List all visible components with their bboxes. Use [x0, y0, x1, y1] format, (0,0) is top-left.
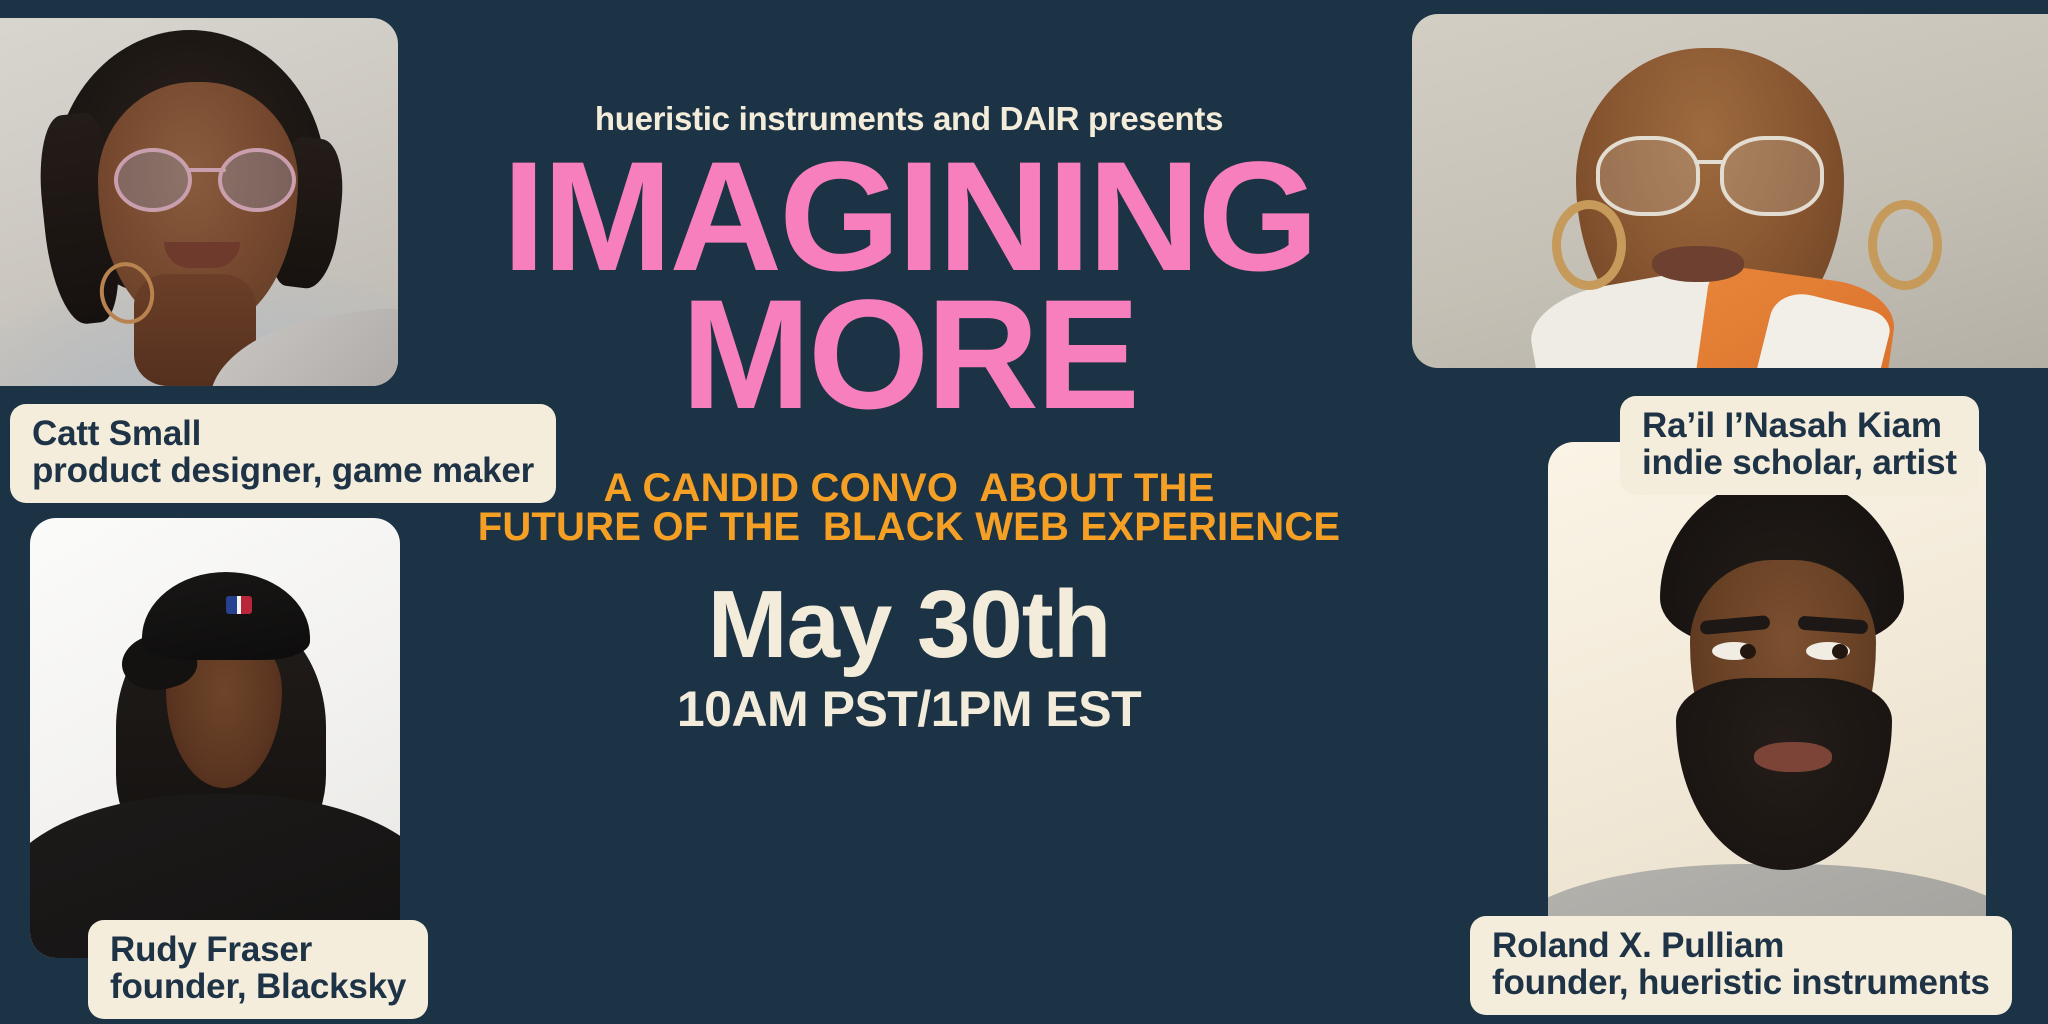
photo-content — [1412, 14, 2048, 368]
photo-content — [0, 18, 398, 386]
mouth-shape — [1652, 246, 1744, 282]
speaker-name: Rudy Fraser — [110, 931, 406, 968]
eyeglasses — [1596, 136, 1824, 208]
speaker-role: product designer, game maker — [32, 452, 534, 489]
speaker-nameplate-rudy-fraser: Rudy Fraser founder, Blacksky — [88, 920, 428, 1019]
speaker-nameplate-catt-small: Catt Small product designer, game maker — [10, 404, 556, 503]
pupil-right — [1832, 644, 1848, 659]
cap-logo-icon — [226, 596, 252, 614]
lens-left — [114, 148, 192, 212]
speaker-role: founder, Blacksky — [110, 968, 406, 1005]
event-time: 10AM PST/1PM EST — [404, 680, 1414, 738]
event-date: May 30th — [404, 570, 1414, 680]
poster-title-line-1: IMAGINING — [404, 152, 1414, 283]
lens-right — [1720, 136, 1824, 216]
photo-content — [30, 518, 400, 958]
lens-right — [218, 148, 296, 212]
speaker-name: Ra’il I’Nasah Kiam — [1642, 407, 1957, 444]
speaker-role: founder, hueristic instruments — [1492, 964, 1990, 1001]
eyeglasses — [110, 148, 300, 204]
speaker-name: Catt Small — [32, 415, 534, 452]
speaker-nameplate-roland-x-pulliam: Roland X. Pulliam founder, hueristic ins… — [1470, 916, 2012, 1015]
poster-text-column: hueristic instruments and DAIR presents … — [404, 0, 1414, 1024]
glasses-bridge — [186, 168, 226, 172]
event-poster: hueristic instruments and DAIR presents … — [0, 0, 2048, 1024]
hoop-earring-left — [1552, 200, 1626, 290]
speaker-name: Roland X. Pulliam — [1492, 927, 1990, 964]
pupil-left — [1740, 644, 1756, 659]
poster-subtitle-line-2: FUTURE OF THE BLACK WEB EXPERIENCE — [404, 505, 1414, 550]
speaker-nameplate-rail-inasah-kiam: Ra’il I’Nasah Kiam indie scholar, artist — [1620, 396, 1979, 495]
speaker-photo-rudy-fraser — [30, 518, 400, 958]
speaker-photo-rail-inasah-kiam — [1412, 14, 2048, 368]
lens-left — [1596, 136, 1700, 216]
speaker-photo-roland-x-pulliam — [1548, 442, 1986, 982]
glasses-bridge — [1694, 160, 1726, 164]
photo-content — [1548, 442, 1986, 982]
speaker-role: indie scholar, artist — [1642, 444, 1957, 481]
speaker-photo-catt-small — [0, 18, 398, 386]
mouth-shape — [1754, 742, 1832, 772]
poster-title-line-2: MORE — [404, 290, 1414, 421]
hoop-earring-right — [1868, 200, 1942, 290]
